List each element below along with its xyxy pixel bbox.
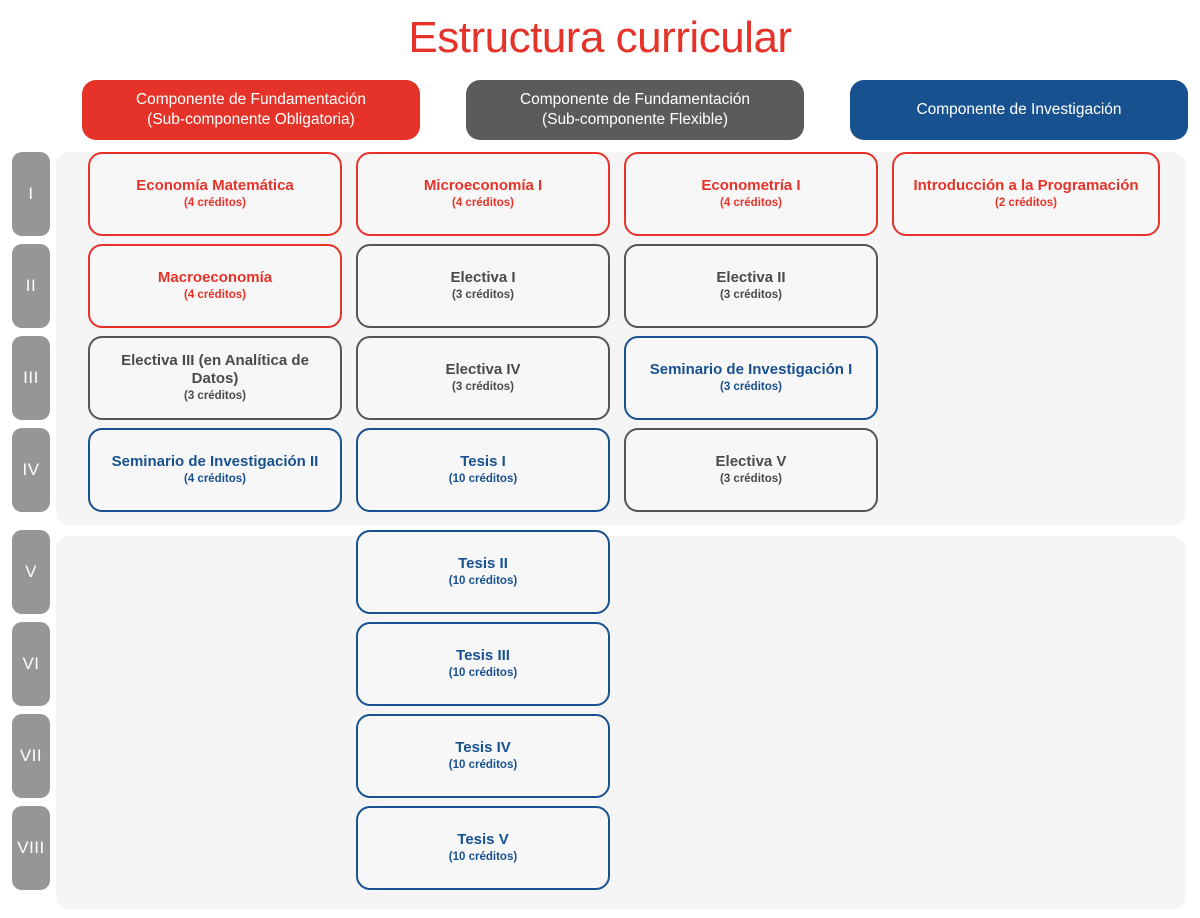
course-cell: Electiva IV(3 créditos) <box>356 336 610 420</box>
semester-label: II <box>26 276 36 296</box>
course-row-vii: Tesis IV(10 créditos) <box>56 714 1186 798</box>
course-credits: (4 créditos) <box>184 196 246 211</box>
course-card[interactable]: Economía Matemática(4 créditos) <box>88 152 342 236</box>
semester-label: I <box>28 184 33 204</box>
course-card-empty <box>892 244 1160 328</box>
course-card[interactable]: Econometría I(4 créditos) <box>624 152 878 236</box>
legend-label-line1: Componente de Fundamentación <box>520 91 750 108</box>
course-card-empty <box>624 622 878 706</box>
course-card-empty <box>88 530 342 614</box>
semester-tab-i: I <box>12 152 50 236</box>
course-credits: (3 créditos) <box>720 380 782 395</box>
course-credits: (3 créditos) <box>720 288 782 303</box>
course-cell: Introducción a la Programación(2 crédito… <box>892 152 1160 236</box>
semester-tab-vi: VI <box>12 622 50 706</box>
legend-label-line1: Componente de Fundamentación <box>136 91 366 108</box>
course-name: Tesis III <box>456 647 510 665</box>
semester-tab-iii: III <box>12 336 50 420</box>
course-name: Introducción a la Programación <box>913 177 1138 195</box>
semester-label: III <box>23 368 39 388</box>
course-card[interactable]: Tesis II(10 créditos) <box>356 530 610 614</box>
legend-pill-obligatoria: Componente de Fundamentación (Sub-compon… <box>82 80 420 140</box>
course-cell <box>88 714 342 798</box>
course-card[interactable]: Tesis IV(10 créditos) <box>356 714 610 798</box>
course-credits: (3 créditos) <box>184 389 246 404</box>
semester-label: VI <box>22 654 39 674</box>
course-cell <box>88 806 342 890</box>
course-name: Tesis IV <box>455 739 511 757</box>
course-name: Electiva II <box>716 269 785 287</box>
course-row-i: Economía Matemática(4 créditos)Microecon… <box>56 152 1186 236</box>
course-card[interactable]: Tesis III(10 créditos) <box>356 622 610 706</box>
course-cell: Electiva V(3 créditos) <box>624 428 878 512</box>
course-cell: Tesis IV(10 créditos) <box>356 714 610 798</box>
course-row-ii: Macroeconomía(4 créditos)Electiva I(3 cr… <box>56 244 1186 328</box>
course-card-empty <box>624 530 878 614</box>
course-cell: Econometría I(4 créditos) <box>624 152 878 236</box>
course-credits: (10 créditos) <box>449 850 517 865</box>
course-cell <box>624 806 878 890</box>
course-card[interactable]: Electiva IV(3 créditos) <box>356 336 610 420</box>
course-row-iv: Seminario de Investigación II(4 créditos… <box>56 428 1186 512</box>
legend-label-line1: Componente de Investigación <box>916 101 1121 118</box>
course-card[interactable]: Electiva III (en Analítica de Datos)(3 c… <box>88 336 342 420</box>
course-cell: Electiva III (en Analítica de Datos)(3 c… <box>88 336 342 420</box>
course-card-empty <box>892 428 1160 512</box>
course-cell <box>892 244 1160 328</box>
course-name: Tesis V <box>457 831 508 849</box>
course-cell <box>624 714 878 798</box>
course-cell: Macroeconomía(4 créditos) <box>88 244 342 328</box>
course-card[interactable]: Seminario de Investigación I(3 créditos) <box>624 336 878 420</box>
course-cell: Seminario de Investigación I(3 créditos) <box>624 336 878 420</box>
legend: Componente de Fundamentación (Sub-compon… <box>0 66 1200 138</box>
course-credits: (10 créditos) <box>449 472 517 487</box>
course-name: Electiva I <box>450 269 515 287</box>
course-cell <box>892 714 1160 798</box>
course-card[interactable]: Macroeconomía(4 créditos) <box>88 244 342 328</box>
course-name: Electiva IV <box>445 361 520 379</box>
semester-tab-ii: II <box>12 244 50 328</box>
course-cell <box>892 336 1160 420</box>
course-name: Electiva V <box>716 453 787 471</box>
semester-label: VII <box>20 746 42 766</box>
course-card-empty <box>892 806 1160 890</box>
course-row-viii: Tesis V(10 créditos) <box>56 806 1186 890</box>
course-cell: Tesis III(10 créditos) <box>356 622 610 706</box>
course-cell <box>892 530 1160 614</box>
course-credits: (10 créditos) <box>449 574 517 589</box>
course-row-iii: Electiva III (en Analítica de Datos)(3 c… <box>56 336 1186 420</box>
course-name: Tesis I <box>460 453 506 471</box>
course-cell <box>88 622 342 706</box>
course-row-v: Tesis II(10 créditos) <box>56 530 1186 614</box>
course-name: Economía Matemática <box>136 177 294 195</box>
legend-pill-flexible: Componente de Fundamentación (Sub-compon… <box>466 80 804 140</box>
course-credits: (3 créditos) <box>452 288 514 303</box>
course-cell: Tesis I(10 créditos) <box>356 428 610 512</box>
course-name: Seminario de Investigación I <box>650 361 853 379</box>
course-credits: (4 créditos) <box>452 196 514 211</box>
course-card[interactable]: Tesis V(10 créditos) <box>356 806 610 890</box>
course-card-empty <box>624 806 878 890</box>
course-card-empty <box>892 714 1160 798</box>
course-card-empty <box>88 806 342 890</box>
semester-label: VIII <box>17 838 45 858</box>
course-cell: Electiva II(3 créditos) <box>624 244 878 328</box>
course-credits: (4 créditos) <box>184 288 246 303</box>
course-card-empty <box>88 714 342 798</box>
course-card-empty <box>88 622 342 706</box>
semester-column: IIIIIIIVVVIVIIVIII <box>12 152 50 898</box>
course-name: Microeconomía I <box>424 177 542 195</box>
course-credits: (10 créditos) <box>449 758 517 773</box>
course-card[interactable]: Tesis I(10 créditos) <box>356 428 610 512</box>
course-card-empty <box>624 714 878 798</box>
course-name: Tesis II <box>458 555 508 573</box>
course-card-empty <box>892 622 1160 706</box>
course-cell <box>624 530 878 614</box>
course-row-vi: Tesis III(10 créditos) <box>56 622 1186 706</box>
legend-pill-investigacion: Componente de Investigación <box>850 80 1188 140</box>
course-card[interactable]: Electiva V(3 créditos) <box>624 428 878 512</box>
course-card[interactable]: Seminario de Investigación II(4 créditos… <box>88 428 342 512</box>
course-cell: Microeconomía I(4 créditos) <box>356 152 610 236</box>
course-cell <box>892 428 1160 512</box>
course-cell: Tesis II(10 créditos) <box>356 530 610 614</box>
semester-tab-viii: VIII <box>12 806 50 890</box>
course-cell <box>624 622 878 706</box>
course-name: Electiva III (en Analítica de Datos) <box>98 352 332 388</box>
legend-label-line2: (Sub-componente Obligatoria) <box>136 110 366 130</box>
course-credits: (2 créditos) <box>995 196 1057 211</box>
semester-label: IV <box>22 460 39 480</box>
course-name: Seminario de Investigación II <box>112 453 319 471</box>
semester-tab-iv: IV <box>12 428 50 512</box>
course-name: Econometría I <box>701 177 800 195</box>
course-credits: (3 créditos) <box>452 380 514 395</box>
course-cell: Economía Matemática(4 créditos) <box>88 152 342 236</box>
course-card[interactable]: Electiva II(3 créditos) <box>624 244 878 328</box>
course-cell <box>892 622 1160 706</box>
page-title: Estructura curricular <box>0 0 1200 66</box>
course-card[interactable]: Electiva I(3 créditos) <box>356 244 610 328</box>
course-cell: Tesis V(10 créditos) <box>356 806 610 890</box>
course-credits: (3 créditos) <box>720 472 782 487</box>
course-credits: (4 créditos) <box>720 196 782 211</box>
course-card[interactable]: Microeconomía I(4 créditos) <box>356 152 610 236</box>
course-cell: Seminario de Investigación II(4 créditos… <box>88 428 342 512</box>
course-cell <box>88 530 342 614</box>
semester-tab-v: V <box>12 530 50 614</box>
course-card-empty <box>892 530 1160 614</box>
course-card[interactable]: Introducción a la Programación(2 crédito… <box>892 152 1160 236</box>
course-credits: (10 créditos) <box>449 666 517 681</box>
course-cell <box>892 806 1160 890</box>
course-name: Macroeconomía <box>158 269 272 287</box>
semester-label: V <box>25 562 37 582</box>
course-cell: Electiva I(3 créditos) <box>356 244 610 328</box>
legend-label-line2: (Sub-componente Flexible) <box>520 110 750 130</box>
semester-tab-vii: VII <box>12 714 50 798</box>
course-card-empty <box>892 336 1160 420</box>
course-credits: (4 créditos) <box>184 472 246 487</box>
